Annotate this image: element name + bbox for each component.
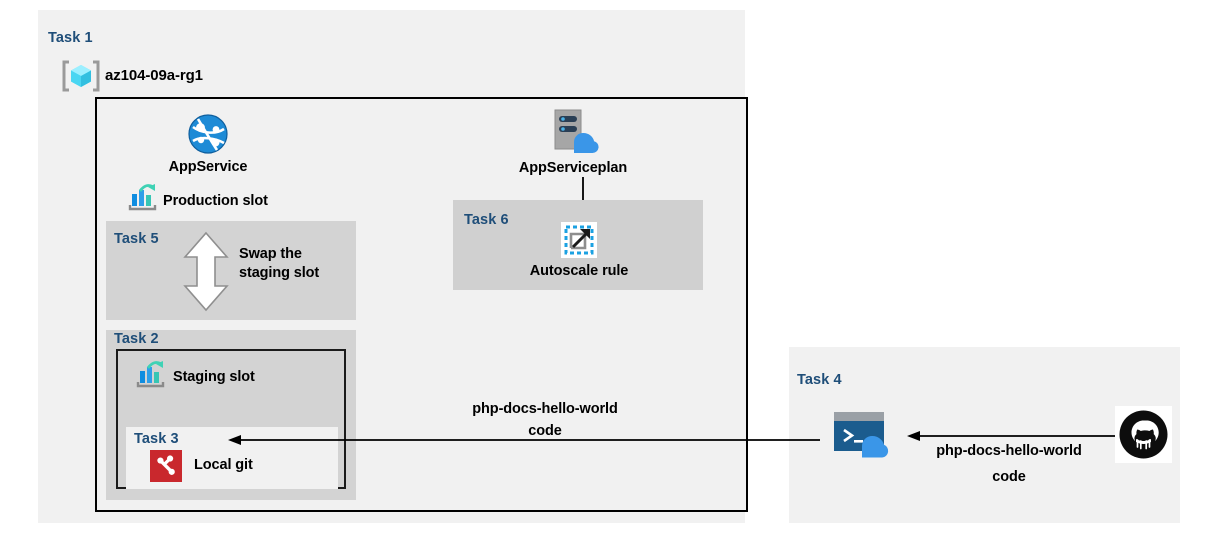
- task-3-label: Task 3: [134, 431, 179, 447]
- task-1-label: Task 1: [48, 30, 93, 46]
- github-octocat-icon: [1115, 406, 1172, 468]
- local-git-label: Local git: [194, 457, 253, 473]
- swap-double-arrow-icon: [182, 231, 230, 317]
- swap-text-line-2: staging slot: [239, 264, 319, 283]
- task-2-label: Task 2: [114, 331, 159, 347]
- app-service-label: AppService: [169, 158, 248, 176]
- git-icon: [150, 450, 182, 487]
- app-service-plan-icon: [547, 107, 599, 162]
- task-4-label: Task 4: [797, 372, 842, 388]
- resource-group-boundary-box: AppService Production slot: [95, 97, 748, 512]
- production-slot-label: Production slot: [163, 193, 268, 209]
- resource-group-name: az104-09a-rg1: [105, 67, 203, 84]
- task-6-label: Task 6: [464, 212, 509, 228]
- arrow-github-to-cloudshell: [907, 429, 1121, 443]
- code-edge-label-line-1: php-docs-hello-world: [425, 400, 665, 418]
- github-edge-label-line-2: code: [904, 468, 1114, 486]
- deployment-slot-icon: [128, 184, 158, 217]
- github-edge-label-line-1: php-docs-hello-world: [904, 442, 1114, 460]
- app-service-plan-label: AppServiceplan: [519, 159, 627, 177]
- diagram-canvas: Task 1 az104-09a-rg1: [0, 0, 1218, 545]
- cloud-shell-icon: [832, 410, 900, 467]
- autoscale-rule-icon: [561, 222, 597, 263]
- box-task-2: Task 2 Staging slot: [106, 330, 356, 500]
- box-task-6: Task 6 Autoscale rule: [453, 200, 703, 290]
- staging-slot-label: Staging slot: [173, 369, 255, 385]
- deployment-slot-icon: [136, 361, 166, 394]
- task-5-label: Task 5: [114, 231, 159, 247]
- code-edge-label-line-2: code: [425, 422, 665, 440]
- box-task-5: Task 5 Swap the staging slot: [106, 221, 356, 320]
- swap-text-line-1: Swap the: [239, 245, 302, 264]
- panel-task-4: Task 4 php-docs-hello-world code: [789, 347, 1180, 523]
- app-service-globe-icon: [187, 113, 229, 160]
- resource-group-cube-icon: [62, 60, 100, 97]
- autoscale-rule-label: Autoscale rule: [530, 262, 629, 280]
- staging-slot-boundary-box: Staging slot Task 3: [116, 349, 346, 489]
